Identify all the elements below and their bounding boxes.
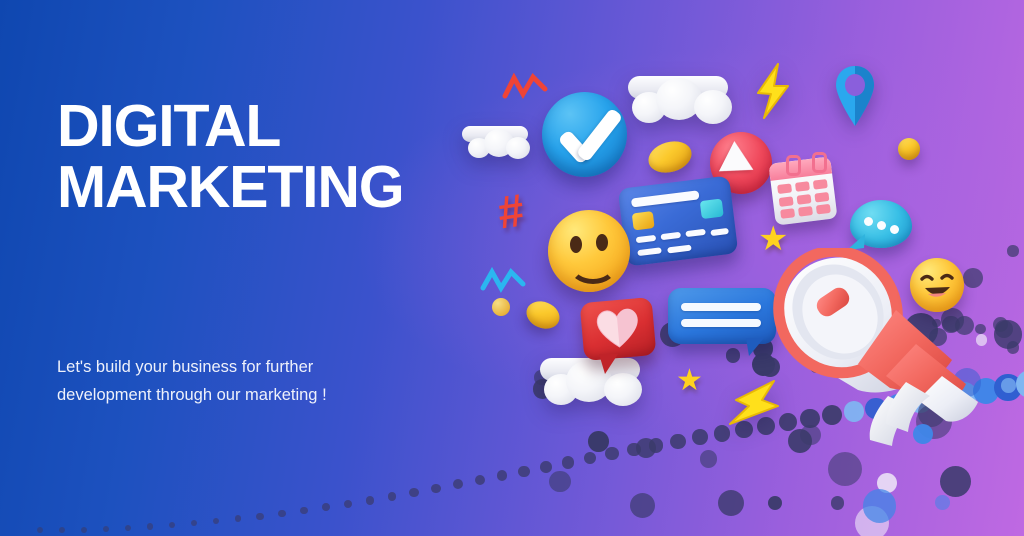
decorative-dot <box>235 515 242 522</box>
decorative-dot <box>1001 378 1015 392</box>
decorative-dot <box>692 429 708 445</box>
decorative-dot <box>147 523 153 529</box>
decorative-dot <box>103 526 109 532</box>
cloud-icon <box>462 126 534 160</box>
decorative-dot <box>431 484 441 494</box>
coin-icon <box>522 297 563 334</box>
cloud-icon <box>540 358 648 408</box>
decorative-dot <box>630 493 655 518</box>
decorative-dot <box>863 489 896 522</box>
location-pin-icon <box>834 64 876 128</box>
decorative-dot <box>828 452 863 487</box>
squiggle-blue-icon <box>480 266 526 298</box>
decorative-dot <box>125 525 131 531</box>
page-title: DIGITAL MARKETING <box>57 96 457 218</box>
decorative-dot <box>995 320 1013 338</box>
hashtag-icon: # <box>495 186 527 235</box>
decorative-dot <box>518 466 529 477</box>
decorative-dot <box>700 450 717 467</box>
heart-bubble-tail-icon <box>596 352 622 376</box>
headline-line-1: DIGITAL <box>57 93 280 159</box>
marketing-banner: DIGITAL MARKETING Let's build your busin… <box>0 0 1024 536</box>
decorative-dot <box>278 510 285 517</box>
decorative-dot <box>322 503 330 511</box>
credit-card-icon <box>618 175 739 266</box>
headline-line-2: MARKETING <box>57 157 457 218</box>
decorative-dot <box>831 496 845 510</box>
decorative-dot <box>636 438 657 459</box>
star-icon: ★ <box>676 366 703 396</box>
decorative-dot <box>584 452 597 465</box>
decorative-dot <box>37 527 43 533</box>
check-circle-icon <box>542 92 627 177</box>
message-bubble-tail-icon <box>744 336 768 360</box>
subtitle-text: Let's build your business for further de… <box>57 353 377 410</box>
heart-icon <box>594 307 641 351</box>
grin-emoji-icon <box>910 258 964 312</box>
cloud-icon <box>628 76 736 126</box>
decorative-dot <box>718 490 744 516</box>
calendar-ring-icon <box>812 152 827 173</box>
decorative-dot <box>549 471 570 492</box>
decorative-dot <box>588 431 608 451</box>
decorative-dot <box>540 461 552 473</box>
decorative-dot <box>475 475 485 485</box>
lightning-bolt-icon <box>752 62 794 120</box>
decorative-dot <box>935 495 950 510</box>
decorative-dot <box>213 518 220 525</box>
decorative-dot <box>453 479 463 489</box>
calendar-ring-icon <box>786 155 801 176</box>
decorative-dot <box>940 466 971 497</box>
sphere-icon <box>898 138 920 160</box>
decorative-dot <box>1007 341 1020 354</box>
sphere-icon <box>492 298 510 316</box>
calendar-icon <box>768 156 837 225</box>
decorative-dot <box>59 527 65 533</box>
smiley-face-icon <box>548 210 630 292</box>
coin-icon <box>645 137 696 178</box>
decorative-dot <box>388 492 397 501</box>
decorative-dot <box>726 348 741 363</box>
headline-block: DIGITAL MARKETING <box>57 96 457 218</box>
decorative-dot <box>562 456 574 468</box>
decorative-dot <box>191 520 198 527</box>
decorative-dot <box>366 496 374 504</box>
decorative-dot <box>256 513 263 520</box>
decorative-dot <box>169 522 175 528</box>
decorative-dot <box>605 447 618 460</box>
decorative-dot <box>409 488 418 497</box>
decorative-dot <box>670 434 685 449</box>
squiggle-red-icon <box>502 72 548 104</box>
decorative-dot <box>81 527 87 533</box>
decorative-dot <box>1007 245 1018 256</box>
decorative-dot <box>497 470 508 481</box>
decorative-dot <box>300 507 308 515</box>
decorative-dot <box>768 496 782 510</box>
decorative-dot <box>344 500 352 508</box>
